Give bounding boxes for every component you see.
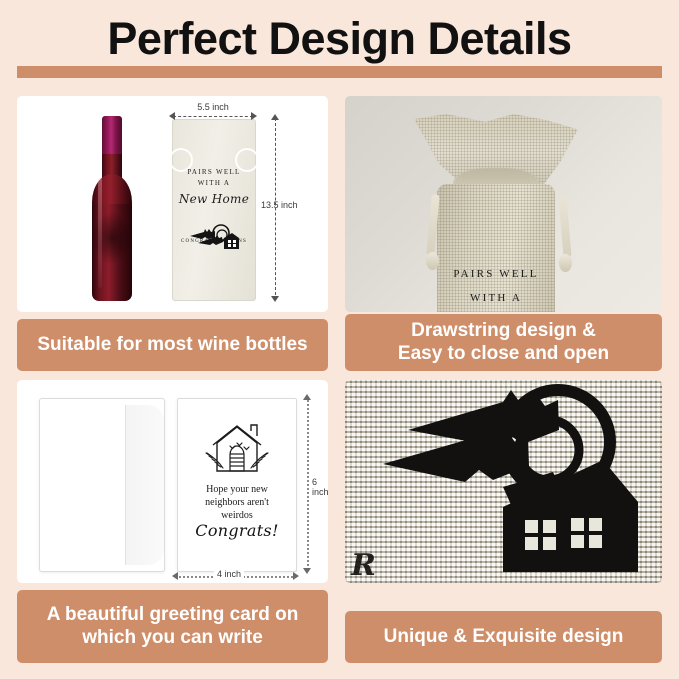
height-arrow-top-icon	[271, 114, 279, 120]
drawstring-knot-right	[559, 254, 572, 272]
title-underline-rule	[17, 66, 662, 78]
card-width-arrow-right-icon	[293, 572, 299, 580]
card-message: Hope your new neighbors aren't weirdos	[184, 483, 290, 522]
greeting-card-illustration: Hope your new neighbors aren't weirdos C…	[177, 398, 297, 572]
bag-height-dimension-line	[275, 118, 276, 300]
panel-caption-card: A beautiful greeting card on which you c…	[17, 590, 328, 663]
print-fragment-letter: R	[351, 548, 376, 583]
caption-line-2: which you can write	[47, 627, 299, 649]
bag-height-label: 13.5 inch	[261, 200, 298, 210]
bag-print-script: New Home	[173, 190, 255, 208]
panel-caption-suitable: Suitable for most wine bottles	[17, 319, 328, 371]
caption-line-1: A beautiful greeting card on	[47, 604, 299, 626]
bag-width-label: 5.5 inch	[173, 102, 253, 112]
bag-photo-print-line1: PAIRS WELL	[437, 268, 555, 280]
card-height-arrow-top-icon	[303, 394, 311, 400]
card-message-line1: Hope your new	[184, 483, 290, 496]
width-arrow-left-icon	[169, 112, 175, 120]
height-arrow-bottom-icon	[271, 296, 279, 302]
panel-caption-drawstring: Drawstring design & Easy to close and op…	[345, 314, 662, 371]
width-arrow-right-icon	[251, 112, 257, 120]
page-title: Perfect Design Details	[0, 16, 679, 61]
panel-unique-design: R Unique & Exquisite design	[345, 380, 662, 663]
house-keychain-keys-icon	[353, 382, 653, 583]
card-width-label: 4 inch	[214, 569, 244, 579]
bag-width-dimension-line	[173, 116, 253, 117]
header: Perfect Design Details	[0, 0, 679, 96]
panel-media-bag-photo: PAIRS WELL WITH A	[345, 96, 662, 312]
wine-bag-illustration: PAIRS WELL WITH A New Home CONGRATULATIO…	[172, 119, 256, 301]
panel-drawstring-design: PAIRS WELL WITH A Drawstring design & Ea…	[345, 96, 662, 371]
envelope-illustration	[39, 398, 165, 572]
panel-media-product-shot: PAIRS WELL WITH A New Home CONGRATULATIO…	[17, 96, 328, 312]
drawstring-cord-right	[558, 196, 571, 258]
card-height-dimension-line	[307, 400, 309, 570]
card-congrats-script: Congrats!	[178, 521, 296, 540]
wine-bottle-illustration	[89, 116, 135, 301]
card-height-label: 6 inch	[312, 475, 328, 499]
house-with-laurels-icon	[199, 421, 275, 484]
house-keychain-keys-icon	[188, 220, 240, 255]
bag-print-line1: PAIRS WELL	[173, 167, 255, 178]
infographic-page: Perfect Design Details PAIRS WELL WITH A	[0, 0, 679, 679]
caption-line-1: Drawstring design &	[398, 320, 609, 342]
panel-suitable-for-bottles: PAIRS WELL WITH A New Home CONGRATULATIO…	[17, 96, 328, 371]
card-height-arrow-bottom-icon	[303, 568, 311, 574]
caption-line-2: Easy to close and open	[398, 343, 609, 365]
burlap-bag-photo: PAIRS WELL WITH A	[345, 96, 662, 312]
card-message-line2: neighbors aren't	[184, 496, 290, 509]
panel-media-card-shot: Hope your new neighbors aren't weirdos C…	[17, 380, 328, 583]
bag-photo-print-line2: WITH A	[437, 292, 555, 304]
panel-greeting-card: Hope your new neighbors aren't weirdos C…	[17, 380, 328, 663]
panel-media-print-closeup: R	[345, 380, 662, 583]
envelope-flap	[125, 405, 164, 565]
card-width-arrow-left-icon	[172, 572, 178, 580]
panel-caption-unique: Unique & Exquisite design	[345, 611, 662, 663]
bottle-capsule	[102, 116, 122, 158]
bottle-highlight	[98, 178, 102, 288]
bag-print-line2: WITH A	[173, 178, 255, 189]
